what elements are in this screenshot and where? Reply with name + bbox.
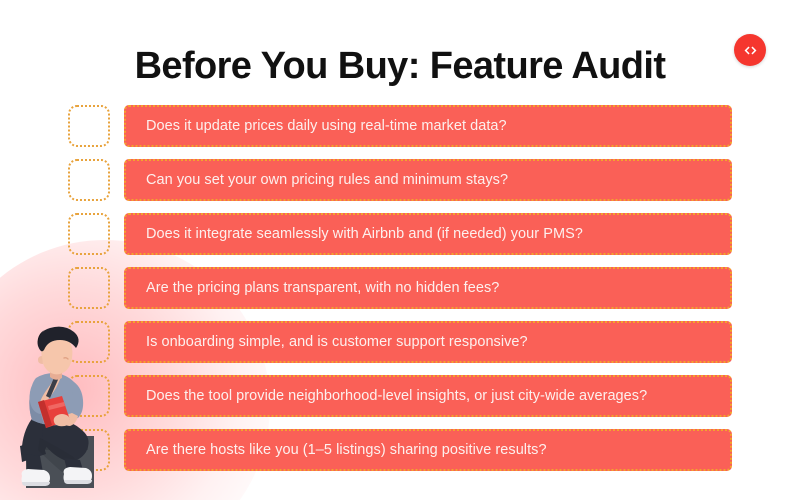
checklist-checkbox-2[interactable] <box>68 159 110 201</box>
checklist-item-label: Can you set your own pricing rules and m… <box>146 171 508 189</box>
checklist-item-bar-2[interactable]: Can you set your own pricing rules and m… <box>124 159 732 201</box>
checklist-row: Does it integrate seamlessly with Airbnb… <box>68 213 732 255</box>
checklist-row: Does the tool provide neighborhood-level… <box>68 375 732 417</box>
checklist-checkbox-4[interactable] <box>68 267 110 309</box>
checklist-row: Is onboarding simple, and is customer su… <box>68 321 732 363</box>
checklist-item-bar-5[interactable]: Is onboarding simple, and is customer su… <box>124 321 732 363</box>
checklist-row: Can you set your own pricing rules and m… <box>68 159 732 201</box>
checklist-item-label: Does it integrate seamlessly with Airbnb… <box>146 225 583 243</box>
checklist-item-label: Does it update prices daily using real-t… <box>146 117 507 135</box>
slide-canvas: Before You Buy: Feature Audit Does it up… <box>0 0 800 500</box>
checklist-item-bar-6[interactable]: Does the tool provide neighborhood-level… <box>124 375 732 417</box>
checklist-item-label: Are the pricing plans transparent, with … <box>146 279 499 297</box>
checklist-item-bar-4[interactable]: Are the pricing plans transparent, with … <box>124 267 732 309</box>
checklist-checkbox-7[interactable] <box>68 429 110 471</box>
checklist-row: Are the pricing plans transparent, with … <box>68 267 732 309</box>
checklist-item-bar-3[interactable]: Does it integrate seamlessly with Airbnb… <box>124 213 732 255</box>
checklist-item-bar-7[interactable]: Are there hosts like you (1–5 listings) … <box>124 429 732 471</box>
checklist-checkbox-3[interactable] <box>68 213 110 255</box>
checklist-item-label: Is onboarding simple, and is customer su… <box>146 333 528 351</box>
checklist-checkbox-6[interactable] <box>68 375 110 417</box>
checklist-row: Does it update prices daily using real-t… <box>68 105 732 147</box>
feature-audit-checklist: Does it update prices daily using real-t… <box>68 105 732 471</box>
checklist-item-bar-1[interactable]: Does it update prices daily using real-t… <box>124 105 732 147</box>
page-title: Before You Buy: Feature Audit <box>0 44 800 88</box>
checklist-row: Are there hosts like you (1–5 listings) … <box>68 429 732 471</box>
checklist-item-label: Does the tool provide neighborhood-level… <box>146 387 647 405</box>
checklist-checkbox-5[interactable] <box>68 321 110 363</box>
checklist-item-label: Are there hosts like you (1–5 listings) … <box>146 441 547 459</box>
checklist-checkbox-1[interactable] <box>68 105 110 147</box>
